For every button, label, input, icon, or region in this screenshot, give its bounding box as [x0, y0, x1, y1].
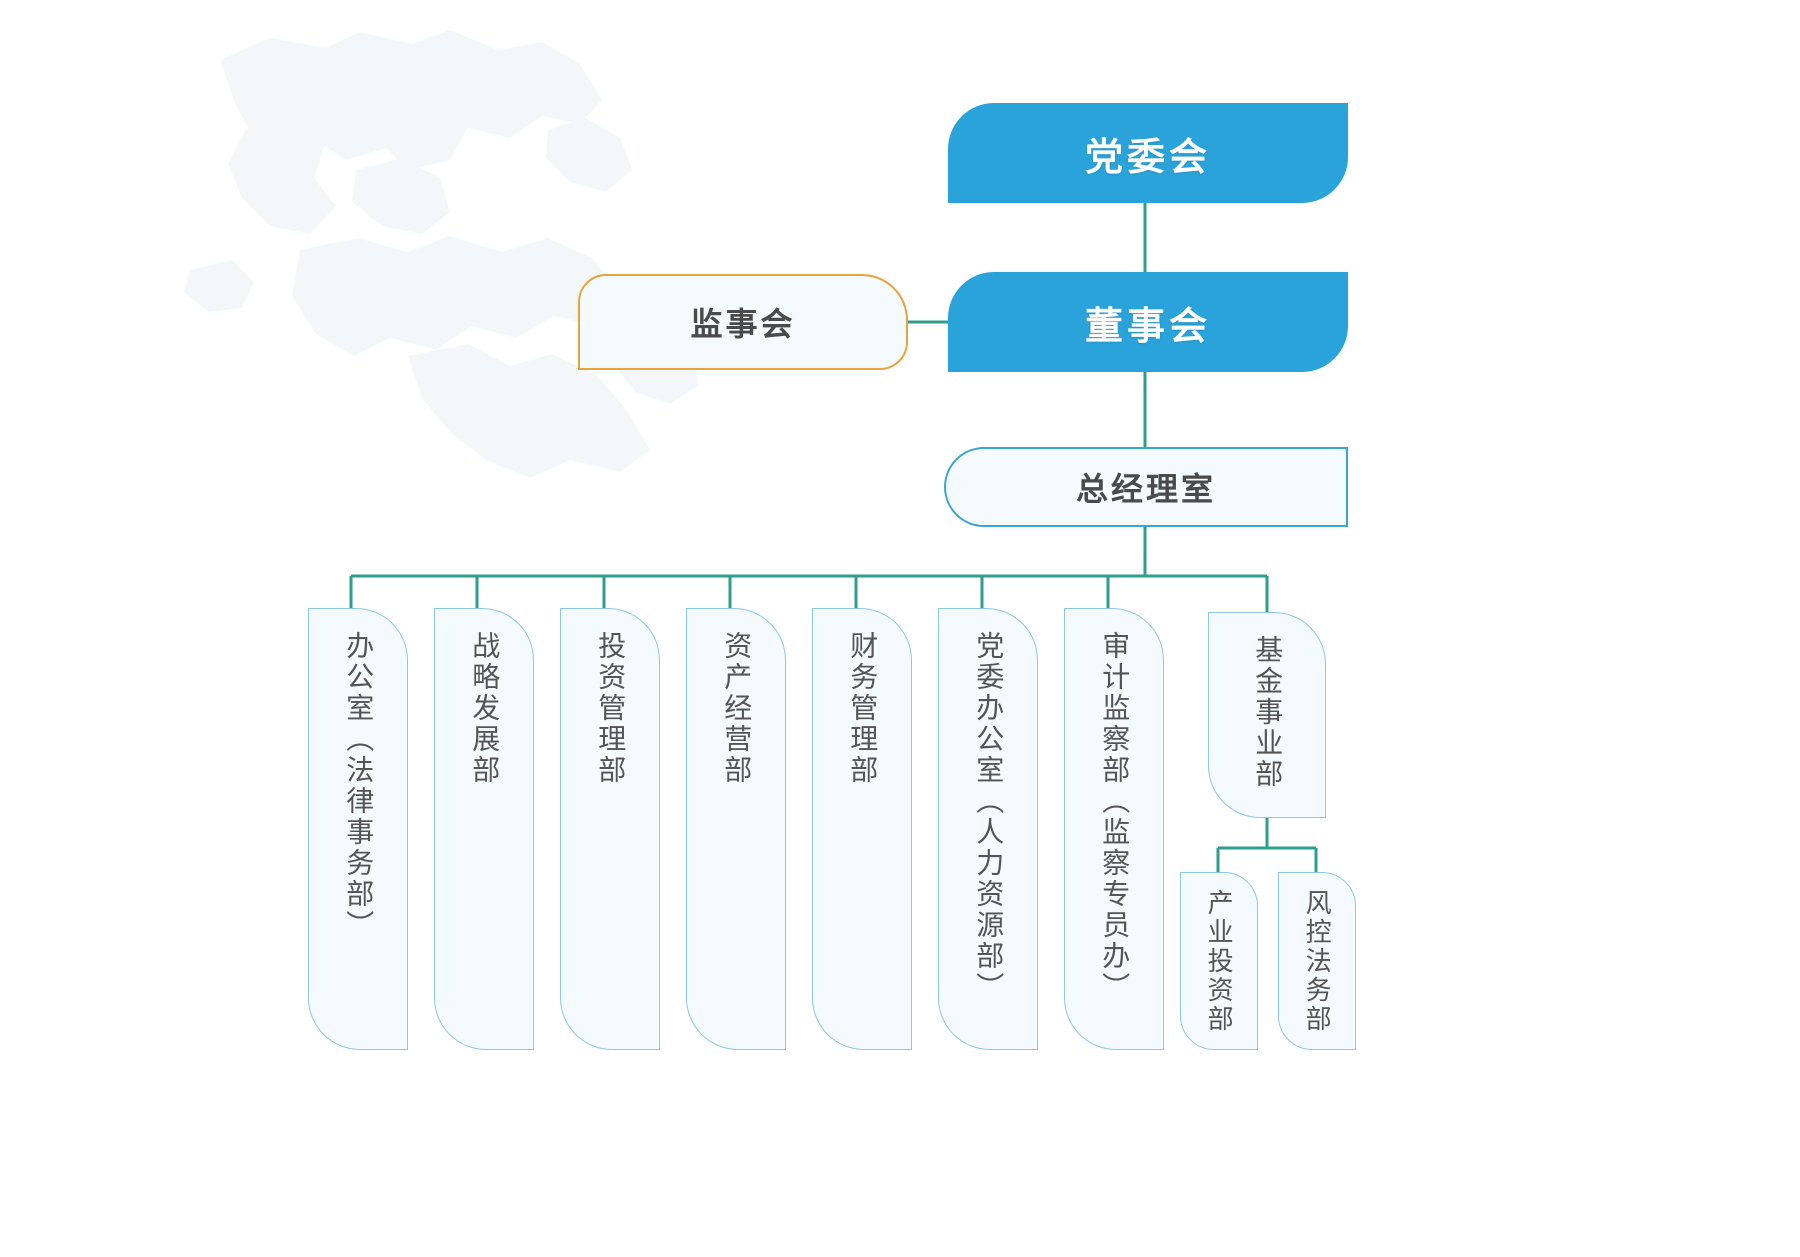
node-subunit-industrial-investment[interactable]: 产业投资部	[1180, 872, 1258, 1050]
node-board-of-directors[interactable]: 董事会	[948, 272, 1348, 372]
node-label-department: 战略发展部	[468, 631, 500, 786]
node-department-strategy[interactable]: 战略发展部	[434, 608, 534, 1050]
node-label-department: 党委办公室（人力资源部）	[972, 631, 1004, 1003]
node-label-department: 财务管理部	[846, 631, 878, 786]
node-label-general-manager-office: 总经理室	[1076, 464, 1216, 510]
node-label-department: 审计监察部（监察专员办）	[1098, 631, 1130, 1003]
node-department-party-office-hr[interactable]: 党委办公室（人力资源部）	[938, 608, 1038, 1050]
node-department-investment-management[interactable]: 投资管理部	[560, 608, 660, 1050]
background-map-watermark	[150, 20, 710, 490]
node-general-manager-office[interactable]: 总经理室	[944, 447, 1348, 527]
node-label-supervisory-board: 监事会	[690, 299, 795, 345]
node-label-subunit: 风控法务部	[1302, 889, 1332, 1034]
node-subunit-risk-control-legal[interactable]: 风控法务部	[1278, 872, 1356, 1050]
node-label-department: 投资管理部	[594, 631, 626, 786]
node-label-department: 办公室（法律事务部）	[342, 631, 374, 941]
node-department-audit-supervision[interactable]: 审计监察部（监察专员办）	[1064, 608, 1164, 1050]
node-label-department: 基金事业部	[1251, 635, 1283, 790]
org-chart-canvas: 党委会 董事会 监事会 总经理室 办公室（法律事务部） 战略发展部 投资管理部 …	[0, 0, 1800, 1257]
node-party-committee[interactable]: 党委会	[948, 103, 1348, 203]
node-department-asset-operation[interactable]: 资产经营部	[686, 608, 786, 1050]
node-supervisory-board[interactable]: 监事会	[578, 274, 908, 370]
node-department-fund-business[interactable]: 基金事业部	[1208, 612, 1326, 818]
node-label-board-of-directors: 董事会	[1085, 295, 1211, 350]
node-department-finance[interactable]: 财务管理部	[812, 608, 912, 1050]
node-department-office-legal[interactable]: 办公室（法律事务部）	[308, 608, 408, 1050]
node-label-party-committee: 党委会	[1085, 126, 1211, 181]
node-label-subunit: 产业投资部	[1204, 889, 1234, 1034]
node-label-department: 资产经营部	[720, 631, 752, 786]
